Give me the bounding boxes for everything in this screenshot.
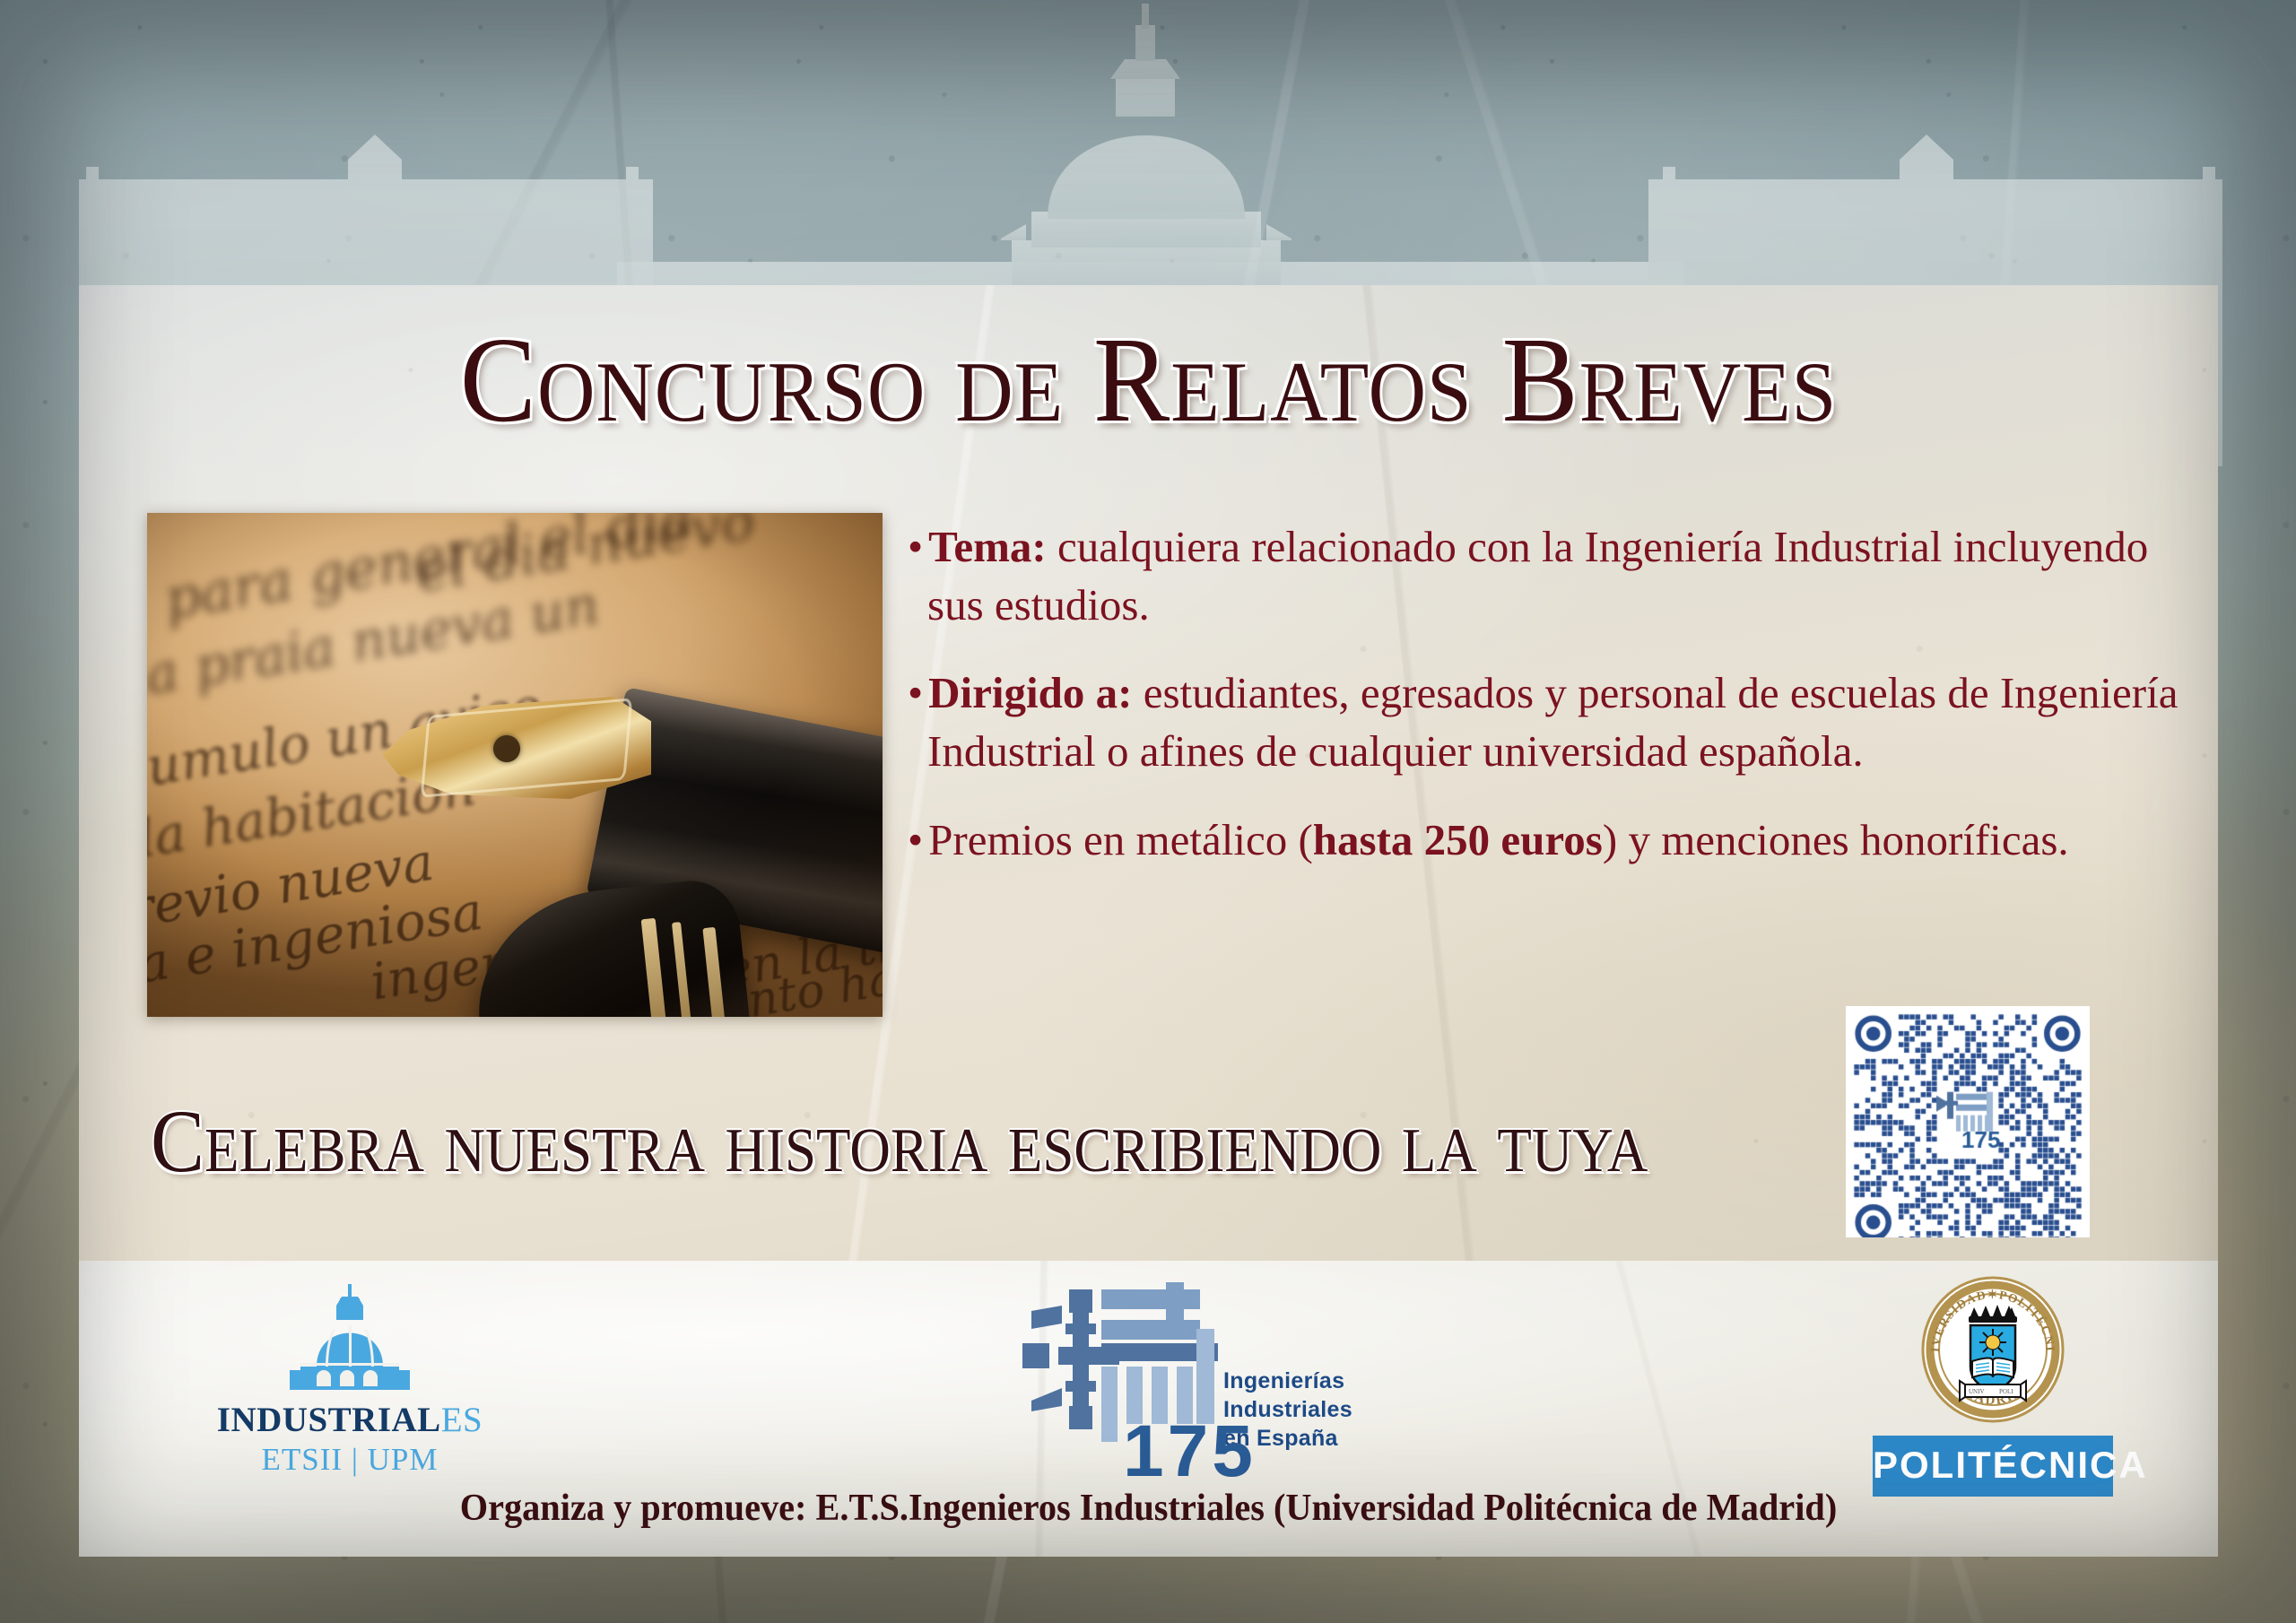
organizer-credit: Organiza y promueve: E.T.S.Ingenieros In… bbox=[122, 1487, 2176, 1530]
fountain-pen-photo: para general el dia el dia nuevo la prai… bbox=[147, 513, 883, 1017]
tagline: Celebra nuestra historia escribiendo la … bbox=[151, 1089, 1648, 1193]
upm-logo: UNIVERSIDAD✶POLITÉCNICA MADRID bbox=[1849, 1275, 2136, 1497]
logo-175-line1: Ingenierías bbox=[1223, 1367, 1352, 1395]
logo-175-ingenierias: Ingenierías Industriales en España 175 bbox=[1012, 1273, 1352, 1480]
industriales-logo: INDUSTRIALES ETSII | UPM bbox=[215, 1284, 484, 1478]
list-item: •Premios en metálico (hasta 250 euros) y… bbox=[908, 811, 2181, 870]
list-item: •Dirigido a: estudiantes, egresados y pe… bbox=[908, 664, 2181, 780]
bullet-dot: • bbox=[908, 522, 928, 571]
svg-text:POLI: POLI bbox=[1999, 1388, 2013, 1395]
bullet-text-pre: Premios en metálico ( bbox=[928, 815, 1313, 864]
list-item: •Tema: cualquiera relacionado con la Ing… bbox=[908, 518, 2181, 634]
qr-code[interactable] bbox=[1846, 1006, 2090, 1237]
photo-vignette bbox=[147, 513, 883, 1017]
details-list: •Tema: cualquiera relacionado con la Ing… bbox=[908, 518, 2181, 899]
bullet-label: Tema: bbox=[928, 522, 1047, 571]
logo-175-number: 175 bbox=[1123, 1410, 1257, 1494]
industriales-name-light: ES bbox=[441, 1401, 483, 1439]
industriales-subtitle: ETSII | UPM bbox=[215, 1442, 484, 1478]
bullet-dot: • bbox=[908, 815, 928, 864]
bullet-dot: • bbox=[908, 668, 928, 717]
bullet-label: Dirigido a: bbox=[928, 668, 1132, 717]
page-title: Concurso de Relatos Breves bbox=[143, 318, 2154, 443]
industriales-name-dark: INDUSTRIAL bbox=[217, 1401, 441, 1439]
industriales-wordmark: INDUSTRIALES bbox=[215, 1400, 484, 1440]
poster-root: Concurso de Relatos Breves para general … bbox=[0, 0, 2296, 1623]
qr-code-canvas[interactable] bbox=[1846, 1006, 2090, 1237]
dome-icon bbox=[265, 1284, 435, 1390]
bullet-emphasis: hasta 250 euros bbox=[1313, 815, 1603, 864]
bullet-text: cualquiera relacionado con la Ingeniería… bbox=[927, 522, 2148, 629]
upm-seal-icon: UNIVERSIDAD✶POLITÉCNICA MADRID bbox=[1918, 1275, 2067, 1424]
svg-text:UNIV: UNIV bbox=[1969, 1388, 1985, 1395]
bullet-text-post: ) y menciones honoríficas. bbox=[1603, 815, 2069, 864]
